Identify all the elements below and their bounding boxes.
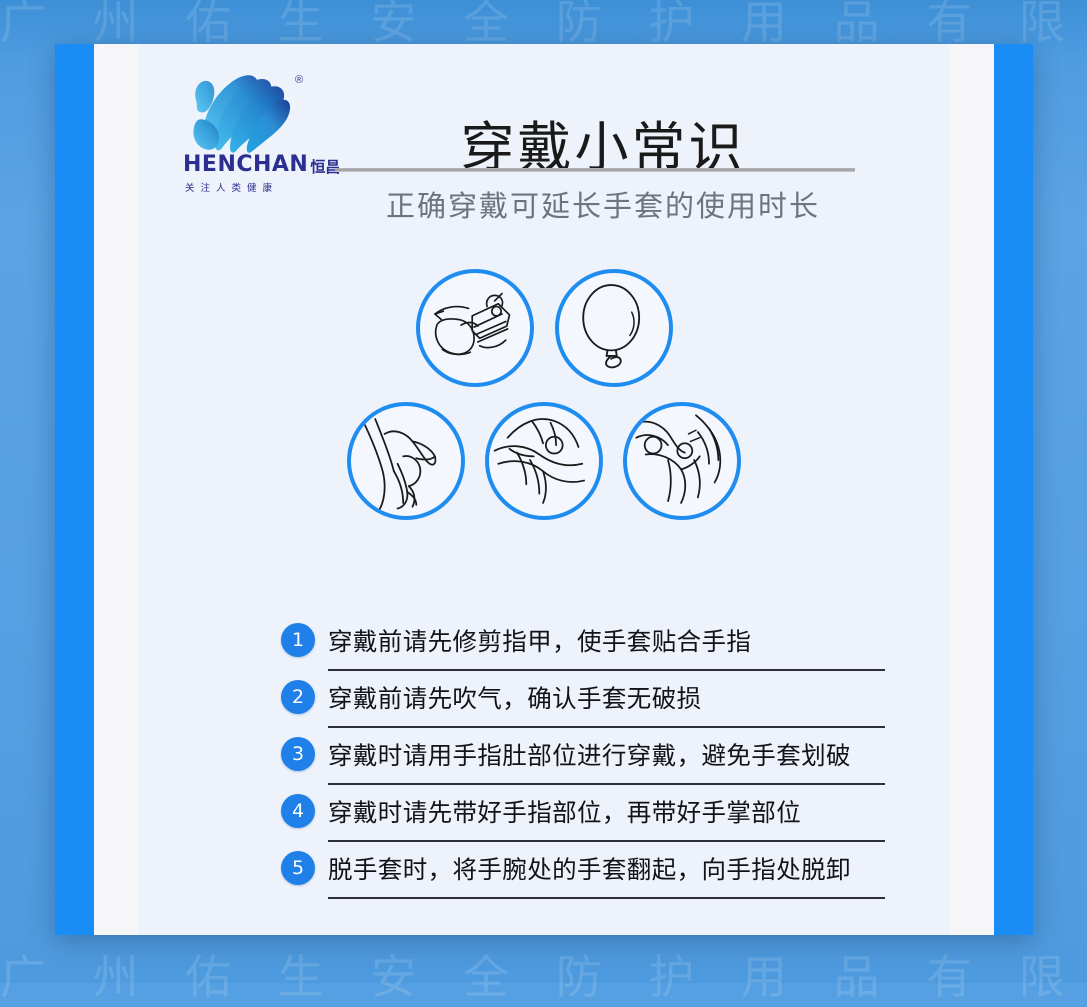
step-text: 穿戴时请用手指肚部位进行穿戴，避免手套划破 (328, 744, 851, 769)
illustration-row-bottom (138, 402, 950, 520)
illustration-row-top (138, 269, 950, 387)
step-number-badge: 4 (281, 794, 315, 828)
card-gutter-right (950, 44, 994, 935)
list-item: 2 穿戴前请先吹气，确认手套无破损 (138, 671, 950, 728)
page-title: 穿戴小常识 (323, 121, 883, 175)
henchan-fan-logo-icon (191, 62, 291, 154)
step-number-badge: 2 (281, 680, 315, 714)
list-item: 3 穿戴时请用手指肚部位进行穿戴，避免手套划破 (138, 728, 950, 785)
info-card: ® HENCHAN 恒昌 关注人类健康 穿戴小常识 正确穿戴可延长手套的使用时长 (55, 44, 1033, 935)
list-item: 1 穿戴前请先修剪指甲，使手套贴合手指 (138, 614, 950, 671)
list-item: 5 脱手套时，将手腕处的手套翻起，向手指处脱卸 (138, 842, 950, 899)
step-text: 脱手套时，将手腕处的手套翻起，向手指处脱卸 (328, 858, 851, 883)
fingertip-pinch-glove-icon (347, 402, 465, 520)
list-item: 4 穿戴时请先带好手指部位，再带好手掌部位 (138, 785, 950, 842)
registered-mark-icon: ® (295, 74, 303, 86)
steps-list: 1 穿戴前请先修剪指甲，使手套贴合手指 2 穿戴前请先吹气，确认手套无破损 3 … (138, 614, 950, 899)
step-divider (328, 897, 885, 899)
step-text: 穿戴前请先吹气，确认手套无破损 (328, 687, 702, 712)
card-gutter-left (94, 44, 138, 935)
card-accent-stripe-left (55, 44, 94, 935)
step-text: 穿戴时请先带好手指部位，再带好手掌部位 (328, 801, 801, 826)
title-divider (335, 168, 855, 172)
brand-tagline: 关注人类健康 (185, 180, 278, 194)
step-text: 穿戴前请先修剪指甲，使手套贴合手指 (328, 630, 751, 655)
step-number-badge: 3 (281, 737, 315, 771)
illustration-group (138, 269, 950, 599)
step-number-badge: 1 (281, 623, 315, 657)
nail-clipping-icon (416, 269, 534, 387)
card-accent-stripe-right (994, 44, 1033, 935)
peel-off-glove-icon (623, 402, 741, 520)
card-header: ® HENCHAN 恒昌 关注人类健康 穿戴小常识 正确穿戴可延长手套的使用时长 (138, 44, 950, 244)
content-panel: ® HENCHAN 恒昌 关注人类健康 穿戴小常识 正确穿戴可延长手套的使用时长 (138, 44, 950, 935)
page-subtitle: 正确穿戴可延长手套的使用时长 (323, 188, 883, 226)
step-number-badge: 5 (281, 851, 315, 885)
watermark-bottom: 广 州 佑 生 安 全 防 护 用 品 有 限 公 司 (0, 941, 1087, 1007)
pull-glove-over-palm-icon (485, 402, 603, 520)
balloon-inflate-icon (555, 269, 673, 387)
brand-name-en: HENCHAN (183, 154, 308, 176)
